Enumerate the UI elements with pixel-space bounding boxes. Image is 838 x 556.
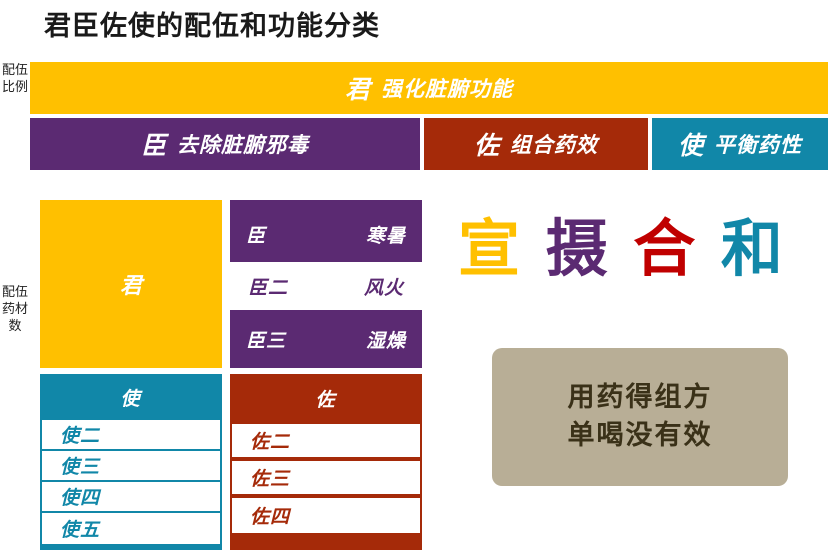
matrix-row-chen-2: 臣二 风火 [230, 262, 422, 310]
matrix-row-zuo-3-left: 佐三 [250, 464, 290, 491]
matrix-row-shi-3: 使三 [42, 451, 220, 480]
band-row-zuo: 佐 组合药效 [424, 118, 648, 170]
band-row-shi: 使 平衡药性 [652, 118, 828, 170]
matrix-row-shi-5: 使五 [42, 513, 220, 544]
diagram-canvas: 君臣佐使的配伍和功能分类 配伍比例 配伍药材数 君 强化脏腑功能 臣 去除脏腑邪… [0, 0, 838, 556]
note-box: 用药得组方 单喝没有效 [492, 348, 788, 486]
matrix-row-zuo-2: 佐二 [232, 424, 420, 457]
matrix-row-chen-3: 臣三 湿燥 [230, 314, 422, 364]
band-text-jun: 强化脏腑功能 [381, 73, 513, 103]
matrix-row-zuo-3: 佐三 [232, 461, 420, 494]
headline: 宣 摄 合 和 [458, 218, 785, 280]
matrix-row-zuo-2-left: 佐二 [250, 427, 290, 454]
band-row-chen: 臣 去除脏腑邪毒 [30, 118, 420, 170]
matrix-row-chen-2-right: 风火 [364, 273, 404, 300]
band-role-jun: 君 [345, 70, 371, 106]
matrix-row-chen-3-right: 湿燥 [366, 326, 406, 353]
headline-char-3: 合 [633, 218, 697, 280]
matrix-row-shi-5-left: 使五 [60, 515, 100, 542]
matrix-row-chen-1-right: 寒暑 [366, 221, 406, 248]
headline-char-2: 摄 [546, 218, 610, 280]
band-role-zuo: 佐 [474, 126, 500, 162]
matrix-row-shi-2-left: 使二 [60, 421, 100, 448]
note-line-2: 单喝没有效 [568, 417, 713, 455]
matrix-head-zuo: 佐 [230, 378, 422, 418]
headline-char-4: 和 [721, 218, 785, 280]
band-role-shi: 使 [678, 126, 704, 162]
band-text-zuo: 组合药效 [510, 129, 598, 159]
matrix-row-chen-1-left: 臣 [246, 221, 266, 248]
matrix-row-chen-3-left: 臣三 [246, 326, 286, 353]
matrix-row-shi-4: 使四 [42, 482, 220, 511]
band-row-jun: 君 强化脏腑功能 [30, 62, 828, 114]
matrix-row-zuo-4: 佐四 [232, 498, 420, 533]
axis-label-count: 配伍药材数 [2, 284, 28, 335]
axis-label-ratio: 配伍比例 [2, 62, 28, 96]
matrix-row-shi-3-left: 使三 [60, 452, 100, 479]
matrix-row-shi-2: 使二 [42, 420, 220, 449]
matrix-row-chen-2-left: 臣二 [248, 273, 288, 300]
note-line-1: 用药得组方 [568, 379, 713, 417]
page-title: 君臣佐使的配伍和功能分类 [44, 4, 380, 43]
band-text-chen: 去除脏腑邪毒 [177, 129, 309, 159]
matrix-head-shi: 使 [40, 378, 222, 416]
band-text-shi: 平衡药性 [714, 129, 802, 159]
matrix-block-jun: 君 [40, 200, 222, 368]
headline-char-1: 宣 [458, 218, 522, 280]
matrix-row-zuo-4-left: 佐四 [250, 502, 290, 529]
matrix-row-shi-4-left: 使四 [60, 483, 100, 510]
matrix-row-chen-1: 臣 寒暑 [230, 208, 422, 260]
band-role-chen: 臣 [141, 126, 167, 162]
